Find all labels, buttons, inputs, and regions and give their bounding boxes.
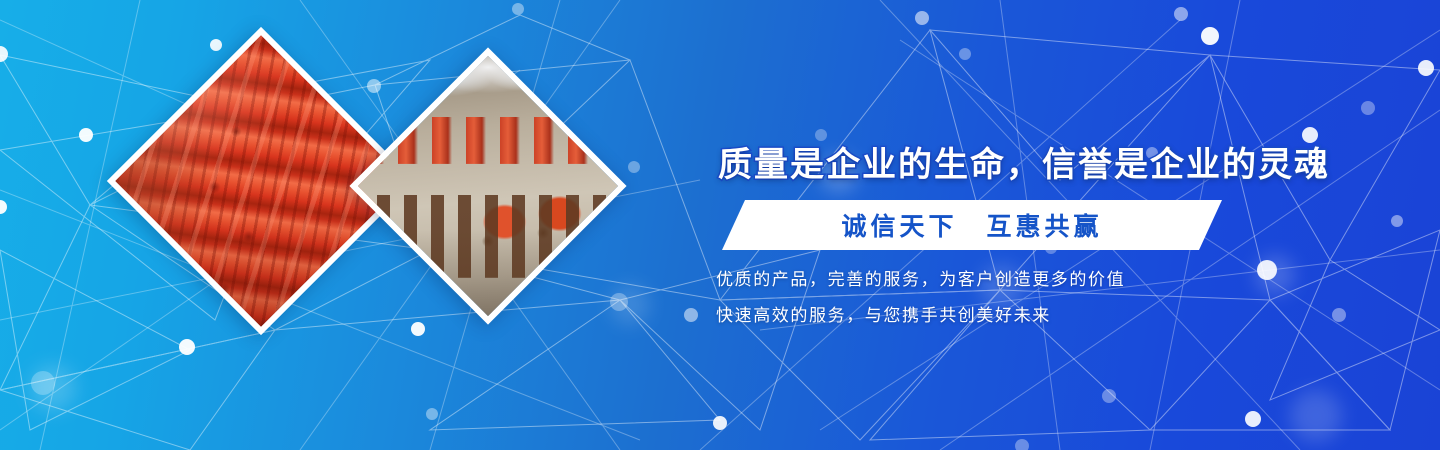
mesh-node [1391,215,1403,227]
mesh-node [31,371,55,395]
banner-subcopy: 优质的产品，完善的服务，为客户创造更多的价值 快速高效的服务，与您携手共创美好未… [716,262,1125,334]
subcopy-line-1: 优质的产品，完善的服务，为客户创造更多的价值 [716,262,1125,298]
mesh-node [915,11,929,25]
subcopy-line-2: 快速高效的服务，与您携手共创美好未来 [716,298,1125,334]
mesh-node [1361,101,1375,115]
slogan-bar: 诚信天下 互惠共赢 [722,200,1222,250]
mesh-node [610,293,628,311]
mesh-node [1245,411,1261,427]
mesh-node [411,322,425,336]
mesh-node [367,79,381,93]
mesh-node [426,408,438,420]
mesh-node [1102,389,1116,403]
mesh-node [179,339,195,355]
mesh-node [1174,7,1188,21]
mesh-node [1418,60,1434,76]
banner-headline: 质量是企业的生命，信誉是企业的灵魂 [718,137,1330,186]
promo-banner: 质量是企业的生命，信誉是企业的灵魂 诚信天下 互惠共赢 优质的产品，完善的服务，… [0,0,1440,450]
mesh-node [1201,27,1219,45]
mesh-node [959,48,971,60]
mesh-node [713,416,727,430]
mesh-node [210,39,222,51]
mesh-node [628,161,640,173]
slogan-text: 诚信天下 互惠共赢 [841,207,1102,243]
